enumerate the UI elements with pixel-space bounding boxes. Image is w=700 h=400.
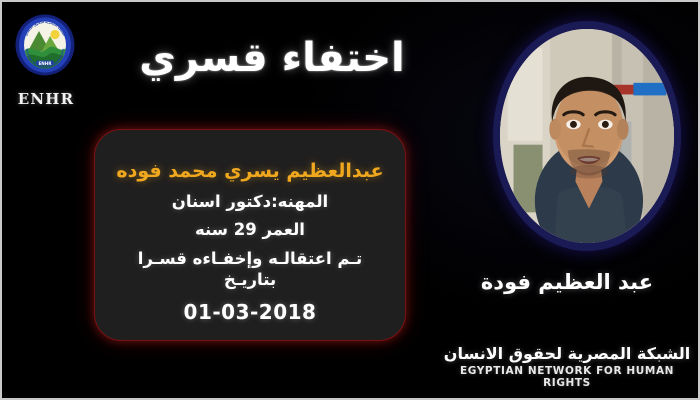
organization-name-en: EGYPTIAN NETWORK FOR HUMAN RIGHTS <box>442 365 692 389</box>
victim-event-date: 01-03-2018 <box>111 300 389 324</box>
portrait-caption: عبد العظيم فودة <box>442 270 692 294</box>
poster-root: ENHR الشبكة المصرية لحقوق الانسان EGYPTI… <box>0 0 700 400</box>
organization-name-ar: الشبكة المصرية لحقوق الانسان <box>442 345 692 363</box>
organization-footer: الشبكة المصرية لحقوق الانسان EGYPTIAN NE… <box>442 345 692 389</box>
victim-portrait-photo <box>500 29 674 243</box>
victim-full-name: عبدالعظيم يسري محمد فوده <box>111 160 389 184</box>
enhr-abbreviation-label: ENHR <box>10 90 82 108</box>
victim-info-card: عبدالعظيم يسري محمد فوده المهنه:دكتور اس… <box>95 130 405 340</box>
victim-portrait-frame <box>493 21 681 251</box>
victim-age: العمر 29 سنه <box>111 219 389 240</box>
victim-event-description: تـم اعتقالـه وإخفـاءه قسـرا بتاريـخ <box>111 248 389 291</box>
person-portrait-photo <box>500 29 674 243</box>
victim-occupation: المهنه:دكتور اسنان <box>111 191 389 212</box>
enhr-logo: ENHR الشبكة المصرية لحقوق الانسان EGYPTI… <box>14 14 76 76</box>
enhr-circular-emblem-icon: ENHR الشبكة المصرية لحقوق الانسان EGYPTI… <box>14 14 76 76</box>
page-title: اختفاء قسري <box>122 36 422 81</box>
